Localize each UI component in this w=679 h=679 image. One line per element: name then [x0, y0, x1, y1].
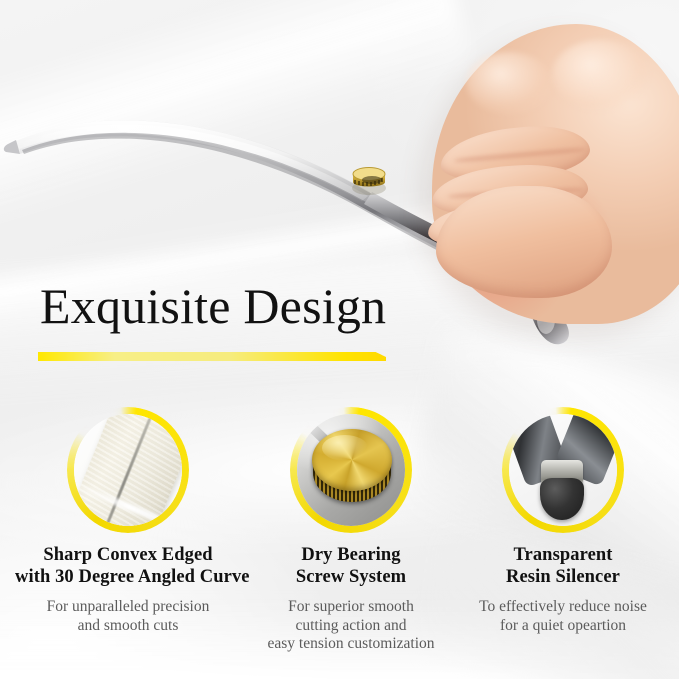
feature-description: For unparalleled precision and smooth cu…	[15, 598, 241, 636]
feature-desc-line: For superior smooth	[238, 598, 464, 617]
feature-item-dry-bearing-screw: Dry Bearing Screw System For superior sm…	[238, 405, 464, 654]
gold-tension-screw-icon	[348, 162, 390, 198]
feature-list: Sharp Convex Edged with 30 Degree Angled…	[0, 405, 679, 679]
feature-desc-line: cutting action and	[238, 617, 464, 636]
feature-title-line: Sharp Convex Edged	[15, 545, 241, 567]
product-feature-graphic: Exquisite Design Sharp Convex Edged with…	[0, 0, 679, 679]
feature-item-sharp-convex-edge: Sharp Convex Edged with 30 Degree Angled…	[15, 405, 241, 635]
feature-badge	[290, 407, 412, 533]
feature-description: For superior smooth cutting action and e…	[238, 598, 464, 655]
feature-desc-line: For unparalleled precision	[15, 598, 241, 617]
feature-badge	[67, 407, 189, 533]
title-underline-rule	[38, 352, 386, 361]
feature-title-line: Dry Bearing	[238, 545, 464, 567]
feature-item-transparent-resin-silencer: Transparent Resin Silencer To effectivel…	[450, 405, 676, 635]
feature-desc-line: for a quiet opeartion	[450, 617, 676, 636]
feature-description: To effectively reduce noise for a quiet …	[450, 598, 676, 636]
feature-title: Transparent Resin Silencer	[450, 545, 676, 589]
feature-title-line: with 30 Degree Angled Curve	[15, 567, 241, 589]
feature-title-line: Resin Silencer	[450, 567, 676, 589]
gold-screw-icon	[297, 414, 405, 526]
feature-title-line: Transparent	[450, 545, 676, 567]
feature-desc-line: and smooth cuts	[15, 617, 241, 636]
blade-edge-icon	[74, 414, 182, 526]
thumb-icon	[436, 186, 612, 298]
page-title: Exquisite Design	[40, 281, 386, 331]
feature-title: Sharp Convex Edged with 30 Degree Angled…	[15, 545, 241, 589]
feature-title-line: Screw System	[238, 567, 464, 589]
feature-title: Dry Bearing Screw System	[238, 545, 464, 589]
resin-silencer-icon	[509, 414, 617, 526]
feature-badge	[502, 407, 624, 533]
feature-desc-line: easy tension customization	[238, 635, 464, 654]
feature-desc-line: To effectively reduce noise	[450, 598, 676, 617]
